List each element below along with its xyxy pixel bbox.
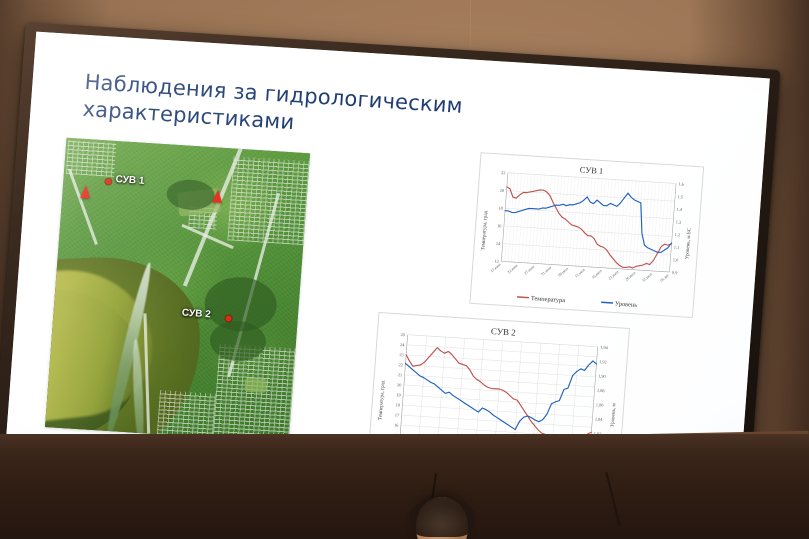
y-tick-label: 21 xyxy=(398,372,403,377)
y-tick-label: 22 xyxy=(501,170,506,175)
y-tick-label: 16 xyxy=(394,422,400,427)
y2-tick-label: 1,94 xyxy=(600,345,609,352)
x-tick-label: 22.июн xyxy=(506,262,519,274)
tv-screen[interactable]: Наблюдения за гидрологическим характерис… xyxy=(5,32,770,503)
chart-suv1-title: СУВ 1 xyxy=(580,165,604,175)
y-tick-label: 22 xyxy=(398,362,403,367)
chart-suv1-y-axis-label: Температура, град xyxy=(480,210,489,250)
map-urban-area-nw xyxy=(66,140,116,177)
x-tick-label: 27.июн xyxy=(523,263,536,275)
chart-suv1-gridlines xyxy=(501,173,676,272)
x-tick-label: 06.июл xyxy=(557,266,569,278)
legend-swatch xyxy=(517,297,529,298)
y-tick-label: 19 xyxy=(396,392,401,397)
x-tick-label: 26.июл xyxy=(624,270,636,282)
map-label-suv2: СУВ 2 xyxy=(181,308,211,321)
x-tick-label: 17.июн xyxy=(489,261,502,273)
aerial-map-image: СУВ 1 СУВ 2 xyxy=(45,138,310,443)
y-tick-label: 20 xyxy=(397,382,402,387)
y2-tick-label: 1,88 xyxy=(597,388,605,394)
y-tick-label: 14 xyxy=(496,241,502,246)
map-field-2 xyxy=(244,378,267,393)
y2-tick-label: 1,3 xyxy=(675,219,681,225)
legend-label: Уровень xyxy=(615,300,638,308)
map-urban-area-ne xyxy=(227,156,309,245)
chart-suv2-y-axis-label: Температура, град xyxy=(377,380,386,420)
y-tick-label: 16 xyxy=(497,223,503,228)
y2-tick-label: 1,2 xyxy=(674,232,680,238)
y-tick-label: 20 xyxy=(500,188,505,193)
y2-tick-label: 1,5 xyxy=(677,194,683,200)
map-cone-marker-right xyxy=(212,189,223,203)
cabinet-front xyxy=(0,434,809,539)
chart-panel-suv1[interactable]: 1214161820220,91,01,11,21,31,41,51,617.и… xyxy=(469,152,704,318)
chart-suv2-title: СУВ 2 xyxy=(491,326,516,338)
map-cone-marker-left xyxy=(80,185,91,199)
slide-title: Наблюдения за гидрологическим характерис… xyxy=(82,69,515,150)
chart-suv1-legend: ТемператураУровень xyxy=(517,294,638,309)
y-tick-label: 17 xyxy=(395,412,401,417)
chart-suv2-y2-axis-label: Уровень, м xyxy=(610,402,618,427)
x-tick-label: 05.авг xyxy=(659,272,670,283)
map-inner: СУВ 1 СУВ 2 xyxy=(45,138,310,443)
y-tick-label: 25 xyxy=(401,332,406,337)
y-tick-label: 18 xyxy=(395,402,400,407)
y-tick-label: 23 xyxy=(399,352,404,357)
y2-tick-label: 1,6 xyxy=(678,181,685,187)
x-tick-label: 21.июл xyxy=(607,269,619,281)
y-tick-label: 24 xyxy=(400,342,406,347)
chart-suv1-y2-axis-label: Уровень, м БС xyxy=(684,227,692,259)
chart-suv2-gridlines xyxy=(400,335,598,448)
presentation-slide: Наблюдения за гидрологическим характерис… xyxy=(5,32,770,503)
y2-tick-label: 1,86 xyxy=(596,402,605,409)
y2-tick-label: 0,9 xyxy=(672,270,678,276)
y2-tick-label: 1,4 xyxy=(676,207,683,213)
y2-tick-label: 1,92 xyxy=(599,359,607,365)
y2-tick-label: 1,0 xyxy=(673,257,679,263)
x-tick-label: 16.июл xyxy=(590,268,602,280)
x-tick-label: 31.июл xyxy=(641,271,653,283)
map-urban-area-s xyxy=(157,390,216,437)
legend-swatch xyxy=(601,302,613,303)
legend-label: Температура xyxy=(531,295,566,304)
y2-tick-label: 1,1 xyxy=(674,245,680,251)
person-hair xyxy=(409,497,475,537)
y2-tick-label: 1,90 xyxy=(598,373,606,379)
map-label-suv1: СУВ 1 xyxy=(115,174,145,187)
room-scene: Наблюдения за гидрологическим характерис… xyxy=(0,0,809,539)
y2-tick-label: 1,84 xyxy=(595,416,604,423)
x-tick-label: 11.июл xyxy=(574,267,586,278)
chart-suv1-svg: 1214161820220,91,01,11,21,31,41,51,617.и… xyxy=(470,153,703,317)
x-tick-label: 01.июл xyxy=(540,265,552,277)
y-tick-label: 18 xyxy=(498,205,503,210)
